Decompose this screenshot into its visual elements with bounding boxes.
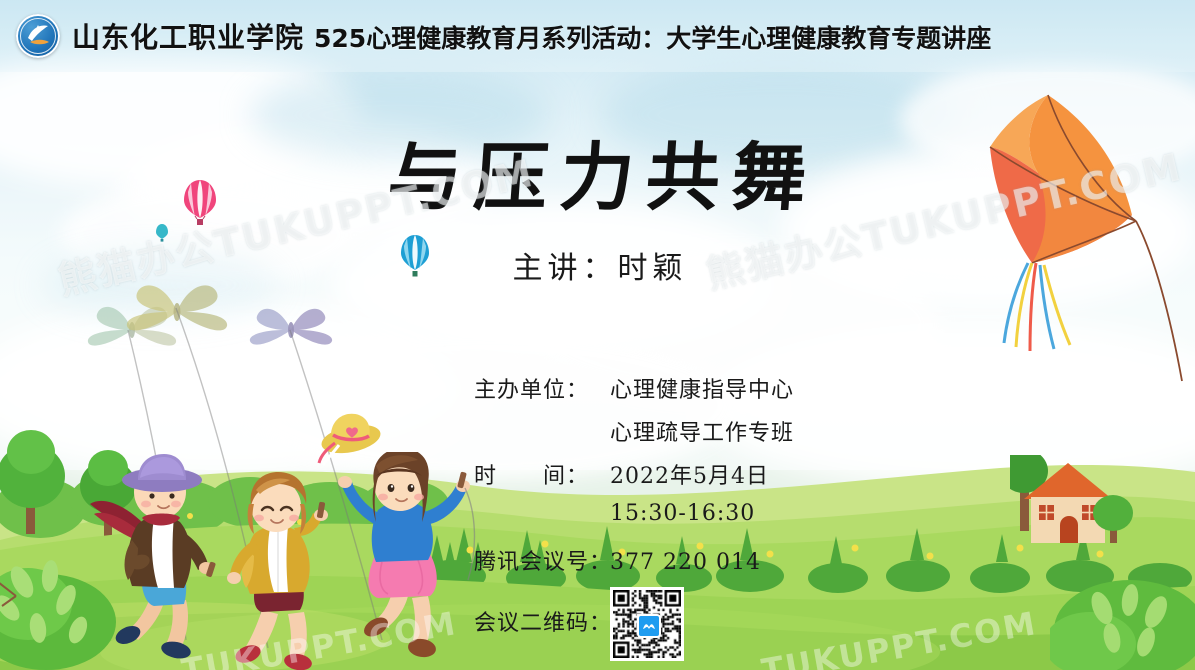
meeting-qr-code[interactable] [610,587,684,661]
page-title: 与压力共舞 [0,118,1195,225]
school-name: 山东化工职业学院 [72,16,304,56]
school-emblem-icon [16,14,60,58]
event-subtitle: 525心理健康教育月系列活动：大学生心理健康教育专题讲座 [314,19,991,55]
girl-blue-shirt [330,452,480,667]
header: 山东化工职业学院 525心理健康教育月系列活动：大学生心理健康教育专题讲座 [0,0,1195,72]
qr-label: 会议二维码： [474,587,610,637]
meeting-label: 腾讯会议号： [474,544,610,576]
organizer-label: 主办单位： [474,372,610,404]
organizer-value-2: 心理疏导工作专班 [610,415,794,447]
organizer-value-1: 心理健康指导中心 [610,372,794,404]
girl-yellow-coat [208,470,348,670]
meeting-number-value: 377 220 014 [610,550,761,575]
cottage-with-orange-roof [1010,455,1160,565]
meeting-row: 腾讯会议号： 377 220 014 [474,544,994,580]
organizer-row-1: 主办单位： 心理健康指导中心 [474,372,994,408]
time-label: 时 间： [474,458,610,490]
time-range-value: 15:30-16:30 [610,501,755,526]
event-details: 主办单位： 心理健康指导中心 心理疏导工作专班 时 间： 2022年5月4日 1… [474,372,994,661]
qr-row: 会议二维码： [474,587,994,661]
tencent-meeting-icon [637,614,661,638]
time-row-range: 15:30-16:30 [474,501,994,537]
foreground-bush-right [1050,560,1195,670]
poster-canvas: 山东化工职业学院 525心理健康教育月系列活动：大学生心理健康教育专题讲座 与压… [0,0,1195,670]
speaker-line: 主讲：时颖 [0,243,1195,287]
time-row-date: 时 间： 2022年5月4日 [474,458,994,494]
time-date-value: 2022年5月4日 [610,458,769,490]
organizer-row-2: 心理疏导工作专班 [474,415,994,451]
